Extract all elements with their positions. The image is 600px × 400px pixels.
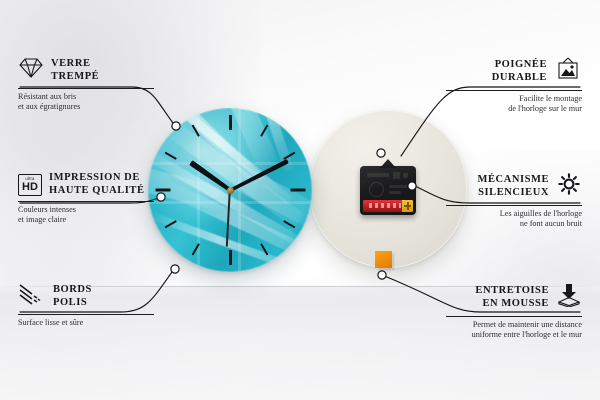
feature-desc-line1: Couleurs intenses — [18, 205, 154, 215]
feature-entretoise-en-mousse: ENTRETOISE EN MOUSSE Permet de maintenir… — [446, 283, 582, 340]
feature-desc-line1: Permet de maintenir une distance — [446, 320, 582, 330]
ultra-hd-badge-main-text: HD — [19, 181, 41, 193]
feature-divider — [446, 316, 582, 317]
feature-title: MÉCANISME — [478, 174, 549, 187]
feature-poignee-durable: POIGNÉE DURABLE Facilite le montage de l… — [446, 57, 582, 114]
ultra-hd-badge-icon: ultra HD — [18, 174, 42, 196]
feature-desc-line1: Résistant aux bris — [18, 92, 154, 102]
feature-divider — [18, 88, 154, 89]
feature-divider — [18, 314, 154, 315]
feature-divider — [446, 90, 582, 91]
feature-title-line2: DURABLE — [492, 72, 547, 85]
feature-bords-polis: BORDS POLIS Surface lisse et sûre — [18, 283, 154, 328]
leader-dot-entretoise — [378, 271, 386, 279]
feature-title-line2: HAUTE QUALITÉ — [49, 185, 145, 198]
feature-verre-trempe: VERRE TREMPÉ Résistant aux bris et aux é… — [18, 57, 154, 112]
feature-desc-line2: et aux égratignures — [18, 102, 154, 112]
feature-desc-line1: Facilite le montage — [446, 94, 582, 104]
feature-title-line2: TREMPÉ — [51, 71, 99, 84]
feature-impression-haute-qualite: ultra HD IMPRESSION DE HAUTE QUALITÉ Cou… — [18, 172, 154, 225]
leader-dot-verre-trempe — [172, 122, 180, 130]
feature-title-line2: EN MOUSSE — [475, 298, 549, 311]
hanging-frame-icon — [554, 57, 582, 86]
polished-edges-icon — [18, 283, 46, 310]
leader-dot-poignee — [377, 149, 385, 157]
feature-title-line2: POLIS — [53, 297, 92, 310]
feature-desc-line2: et image claire — [18, 215, 154, 225]
infographic-canvas: VERRE TREMPÉ Résistant aux bris et aux é… — [0, 0, 600, 400]
feature-title: BORDS — [53, 284, 92, 297]
leader-dot-mecanisme — [408, 182, 416, 190]
feature-mecanisme-silencieux: MÉCANISME SILENCIEUX — [446, 172, 582, 229]
leader-dot-bords-polis — [171, 265, 179, 273]
feature-title: VERRE — [51, 58, 99, 71]
gear-icon — [556, 172, 582, 201]
feature-title-line2: SILENCIEUX — [478, 187, 549, 200]
feature-desc-line2: ne font aucun bruit — [446, 219, 582, 229]
feature-desc-line1: Les aiguilles de l'horloge — [446, 209, 582, 219]
leader-dot-impression — [157, 193, 165, 201]
feature-desc-line1: Surface lisse et sûre — [18, 318, 154, 328]
feature-title: ENTRETOISE — [475, 285, 549, 298]
feature-desc-line2: de l'horloge sur le mur — [446, 104, 582, 114]
feature-divider — [446, 205, 582, 206]
diamond-icon — [18, 57, 44, 84]
feature-title: IMPRESSION DE — [49, 172, 145, 185]
feature-title: POIGNÉE — [492, 59, 547, 72]
foam-spacer-arrow-icon — [556, 283, 582, 312]
feature-divider — [18, 201, 154, 202]
feature-desc-line2: uniforme entre l'horloge et le mur — [446, 330, 582, 340]
